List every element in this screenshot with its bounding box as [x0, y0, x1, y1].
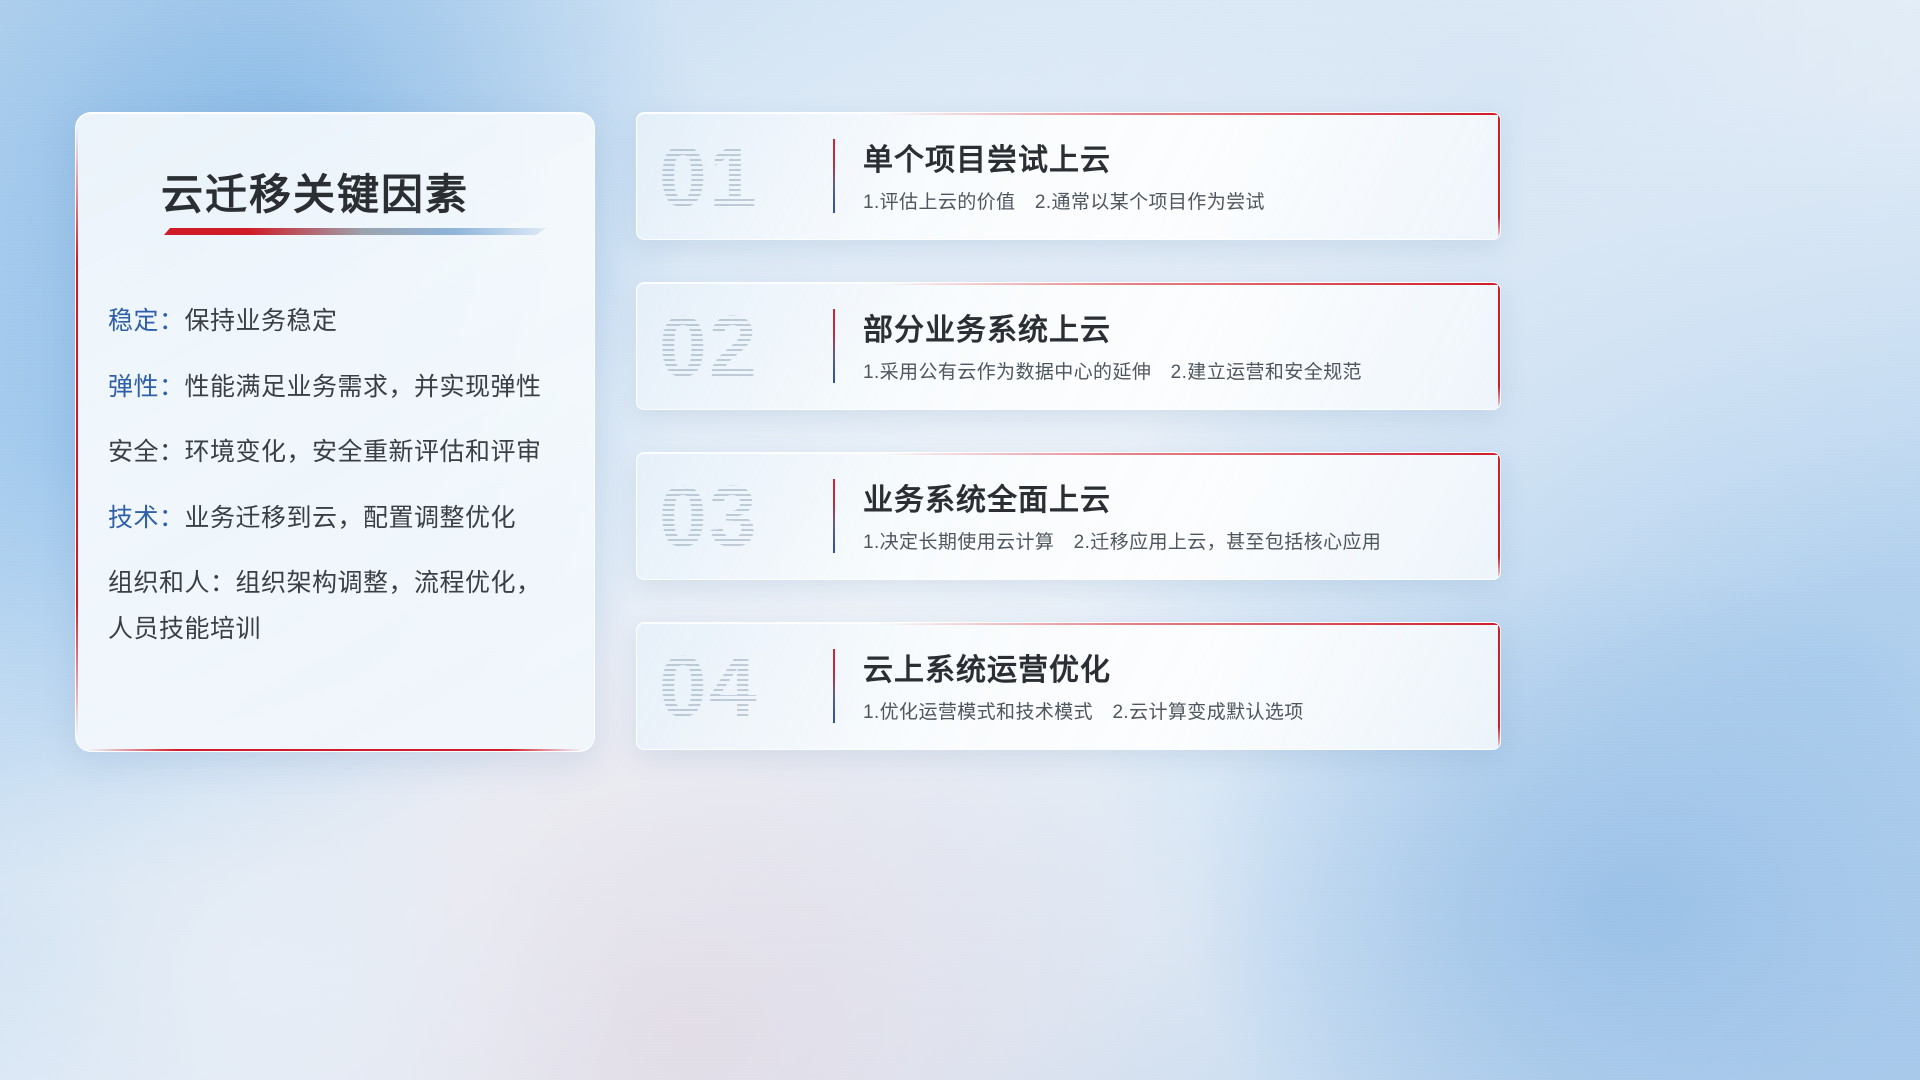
factor-label: 稳定：: [108, 307, 185, 335]
step-number-watermark: 02: [659, 297, 809, 397]
step-subtitle: 1.采用公有云作为数据中心的延伸 2.建立运营和安全规范: [863, 357, 1362, 384]
factor-label: 技术：: [108, 504, 185, 532]
card-left-accent-bar: [76, 127, 78, 737]
factor-text: 环境变化，安全重新评估和评审: [185, 438, 542, 466]
step-divider-bar: [833, 139, 835, 213]
factor-text: 组织架构调整，流程优化，: [236, 569, 542, 597]
card-top-accent-line: [879, 113, 1500, 115]
step-card-01[interactable]: 01 单个项目尝试上云 1.评估上云的价值 2.通常以某个项目作为尝试: [636, 112, 1501, 240]
factor-item-technology: 技术：业务迁移到云，配置调整优化: [108, 500, 572, 538]
factor-item-security: 安全：环境变化，安全重新评估和评审: [108, 434, 572, 472]
card-top-accent-line: [879, 623, 1500, 625]
factor-text: 保持业务稳定: [185, 307, 338, 335]
step-card-03[interactable]: 03 业务系统全面上云 1.决定长期使用云计算 2.迁移应用上云，甚至包括核心应…: [636, 452, 1501, 580]
step-card-04[interactable]: 04 云上系统运营优化 1.优化运营模式和技术模式 2.云计算变成默认选项: [636, 622, 1501, 750]
card-right-accent-line: [1498, 113, 1500, 239]
card-bottom-accent-bar: [88, 749, 582, 751]
card-right-accent-line: [1498, 453, 1500, 579]
card-right-accent-line: [1498, 283, 1500, 409]
factor-item-organization-continued: 人员技能培训: [108, 611, 572, 649]
factor-label: 组织和人：: [108, 569, 236, 597]
page-title: 云迁移关键因素: [161, 161, 469, 222]
title-underline-rule: [164, 228, 546, 235]
step-title: 云上系统运营优化: [863, 645, 1111, 689]
step-divider-bar: [833, 309, 835, 383]
key-factors-card: 云迁移关键因素 稳定：保持业务稳定 弹性：性能满足业务需求，并实现弹性 安全：环…: [75, 112, 595, 752]
step-number-watermark: 03: [659, 467, 809, 567]
step-divider-bar: [833, 479, 835, 553]
factor-label: 安全：: [108, 438, 185, 466]
step-subtitle: 1.评估上云的价值 2.通常以某个项目作为尝试: [863, 187, 1265, 214]
step-title: 单个项目尝试上云: [863, 135, 1111, 179]
factor-item-organization: 组织和人：组织架构调整，流程优化，: [108, 565, 572, 603]
key-factors-list: 稳定：保持业务稳定 弹性：性能满足业务需求，并实现弹性 安全：环境变化，安全重新…: [108, 303, 572, 648]
card-top-accent-line: [879, 453, 1500, 455]
factor-item-elasticity: 弹性：性能满足业务需求，并实现弹性: [108, 369, 572, 407]
step-card-02[interactable]: 02 部分业务系统上云 1.采用公有云作为数据中心的延伸 2.建立运营和安全规范: [636, 282, 1501, 410]
factor-item-stability: 稳定：保持业务稳定: [108, 303, 572, 341]
migration-steps-list: 01 单个项目尝试上云 1.评估上云的价值 2.通常以某个项目作为尝试 02 部…: [636, 112, 1854, 792]
factor-label: 弹性：: [108, 373, 185, 401]
step-number-watermark: 04: [659, 637, 809, 737]
factor-text: 性能满足业务需求，并实现弹性: [185, 373, 542, 401]
step-subtitle: 1.优化运营模式和技术模式 2.云计算变成默认选项: [863, 697, 1304, 724]
step-title: 部分业务系统上云: [863, 305, 1111, 349]
step-subtitle: 1.决定长期使用云计算 2.迁移应用上云，甚至包括核心应用: [863, 527, 1381, 554]
step-number-watermark: 01: [659, 127, 809, 227]
factor-text: 业务迁移到云，配置调整优化: [185, 504, 517, 532]
step-divider-bar: [833, 649, 835, 723]
card-right-accent-line: [1498, 623, 1500, 749]
step-title: 业务系统全面上云: [863, 475, 1111, 519]
card-top-accent-line: [879, 283, 1500, 285]
